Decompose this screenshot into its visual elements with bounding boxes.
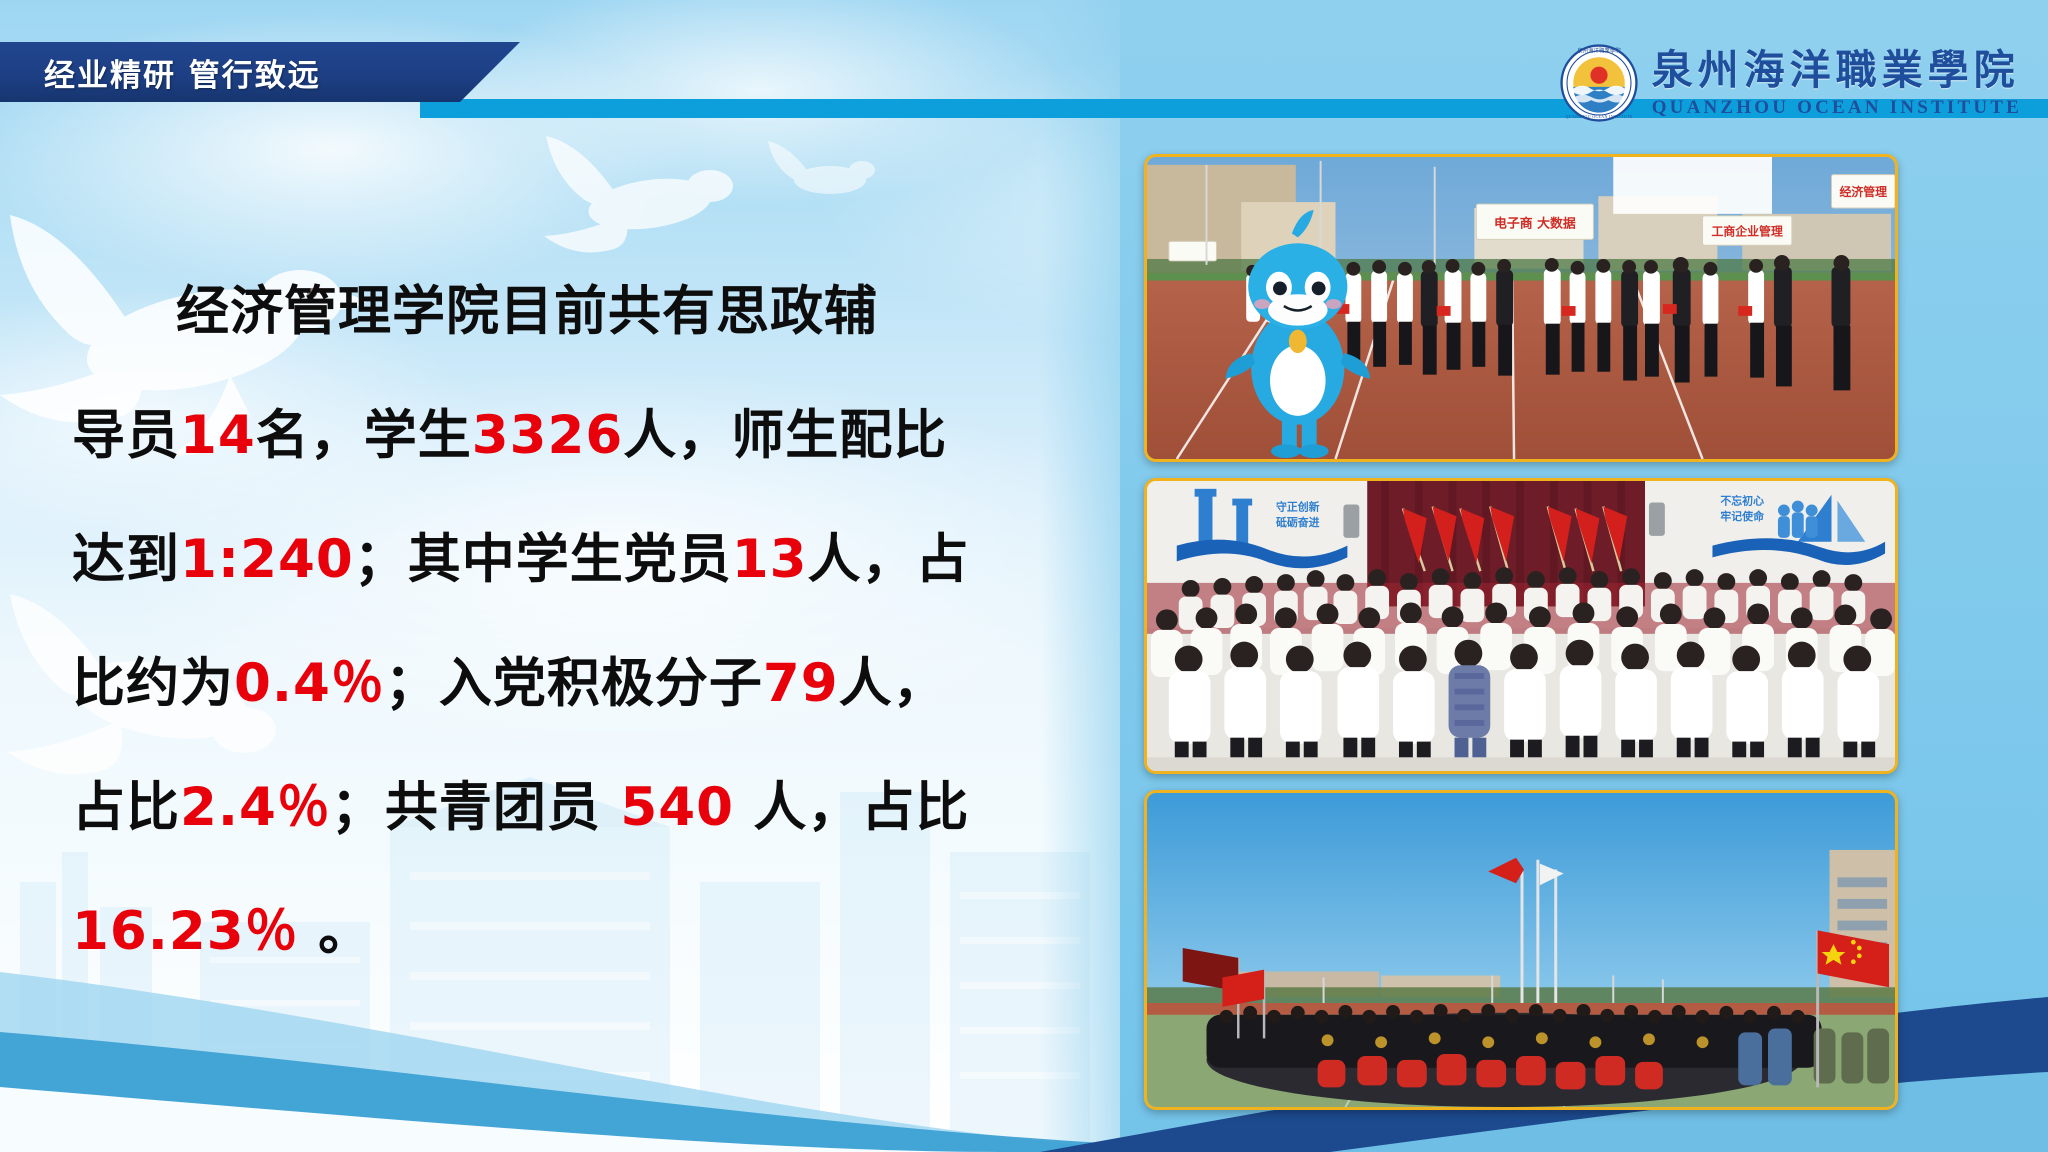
body-text-run: 人，占比 [734, 777, 969, 838]
institute-logo-text: 泉州海洋職業學院 QUANZHOU OCEAN INSTITUTE [1652, 50, 2022, 117]
body-line: 占比2.4％；共青团员 540 人，占比 [72, 746, 1082, 870]
body-text-run: 导员 [72, 405, 180, 466]
body-text-run: 。 [299, 901, 372, 962]
body-text-run: 人，师生配比 [623, 405, 947, 466]
institute-logo: 泉州海洋職業學院 QUANZHOU OCEAN INSTITUTE 泉州海洋職業… [1560, 44, 2022, 122]
body-line: 经济管理学院目前共有思政辅 [72, 250, 1082, 374]
title-banner: 经业精研 管行致远 [0, 42, 520, 102]
title-banner-label: 经业精研 管行致远 [44, 50, 321, 95]
svg-text:砥砺奋进: 砥砺奋进 [1276, 515, 1320, 529]
statistic-value: 3326 [472, 405, 624, 466]
body-text-run: 比约为 [72, 653, 234, 714]
dove-icon-small [760, 130, 890, 220]
body-text-run: ；入党积极分子 [385, 653, 763, 714]
institute-name-cn: 泉州海洋職業學院 [1652, 50, 2022, 91]
body-text-run: 经济管理学院目前共有思政辅 [176, 281, 878, 342]
body-line: 比约为0.4％；入党积极分子79人， [72, 622, 1082, 746]
statistic-value: 79 [763, 653, 839, 714]
body-text-run: 达到 [72, 529, 180, 590]
slide-root: 经业精研 管行致远 泉州海洋職業學院 QUANZHOU OCEAN INSTIT… [0, 0, 2048, 1152]
body-text-run: 人，占 [807, 529, 969, 590]
svg-text:守正创新: 守正创新 [1276, 499, 1320, 513]
quanzhou-ocean-institute-seal-icon: 泉州海洋職業學院 QUANZHOU OCEAN INSTITUTE [1560, 44, 1638, 122]
svg-text:不忘初心: 不忘初心 [1720, 494, 1764, 508]
photo-sports-parade[interactable]: 电子商 大数据 工商企业管理 经济管理 [1144, 154, 1898, 462]
body-line: 导员14名，学生3326人，师生配比 [72, 374, 1082, 498]
statistic-value: 14 [180, 405, 256, 466]
body-text-run: 人， [839, 653, 947, 714]
svg-text:电子商 大数据: 电子商 大数据 [1494, 216, 1576, 232]
body-line: 16.23％ 。 [72, 870, 1082, 994]
photo-auditorium-group[interactable]: 守正创新 砥砺奋进 不忘初心 牢记使命 [1144, 478, 1898, 774]
body-text-run: 占比 [72, 777, 180, 838]
body-text-run: ；共青团员 [331, 777, 620, 838]
body-text-run: 名，学生 [256, 405, 472, 466]
photo-field-assembly[interactable] [1144, 790, 1898, 1110]
statistic-value: 16.23％ [72, 901, 299, 962]
statistic-value: 2.4％ [180, 777, 331, 838]
body-paragraph: 经济管理学院目前共有思政辅导员14名，学生3326人，师生配比达到1:240；其… [72, 250, 1082, 994]
svg-text:经济管理: 经济管理 [1839, 185, 1887, 199]
svg-text:牢记使命: 牢记使命 [1720, 509, 1764, 523]
svg-text:QUANZHOU OCEAN INSTITUTE: QUANZHOU OCEAN INSTITUTE [1565, 114, 1632, 119]
body-line: 达到1:240；其中学生党员13人，占 [72, 498, 1082, 622]
institute-name-en: QUANZHOU OCEAN INSTITUTE [1652, 98, 2022, 117]
statistic-value: 0.4％ [234, 653, 385, 714]
statistic-value: 13 [732, 529, 808, 590]
body-text-run: ；其中学生党员 [354, 529, 732, 590]
svg-text:工商企业管理: 工商企业管理 [1711, 225, 1783, 239]
statistic-value: 1:240 [180, 529, 354, 590]
dove-icon-top [530, 118, 760, 268]
statistic-value: 540 [620, 777, 734, 838]
